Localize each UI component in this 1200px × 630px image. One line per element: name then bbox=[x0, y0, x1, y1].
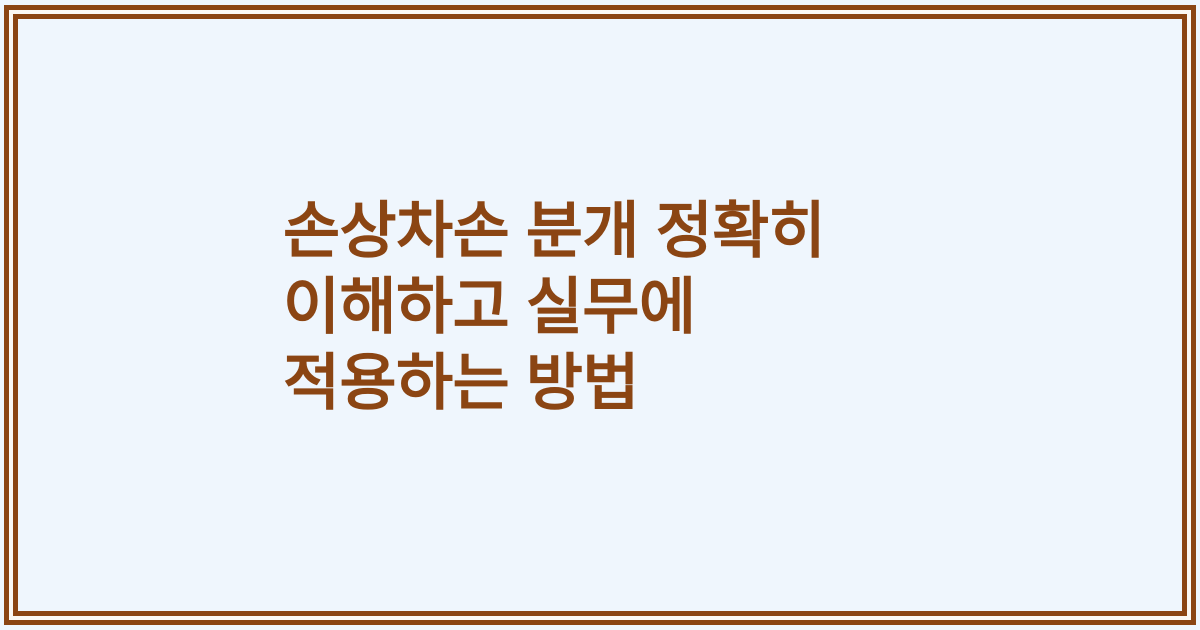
banner-canvas: 손상차손 분개 정확히 이해하고 실무에 적용하는 방법 bbox=[0, 0, 1200, 630]
title-line-1: 손상차손 분개 정확히 bbox=[283, 194, 1142, 270]
page-title: 손상차손 분개 정확히 이해하고 실무에 적용하는 방법 bbox=[18, 194, 1182, 436]
title-line-2: 이해하고 실무에 bbox=[283, 270, 1142, 346]
title-line-3: 적용하는 방법 bbox=[283, 346, 1142, 422]
decorative-frame-outer: 손상차손 분개 정확히 이해하고 실무에 적용하는 방법 bbox=[4, 5, 1196, 625]
decorative-frame-inner: 손상차손 분개 정확히 이해하고 실무에 적용하는 방법 bbox=[13, 14, 1187, 616]
